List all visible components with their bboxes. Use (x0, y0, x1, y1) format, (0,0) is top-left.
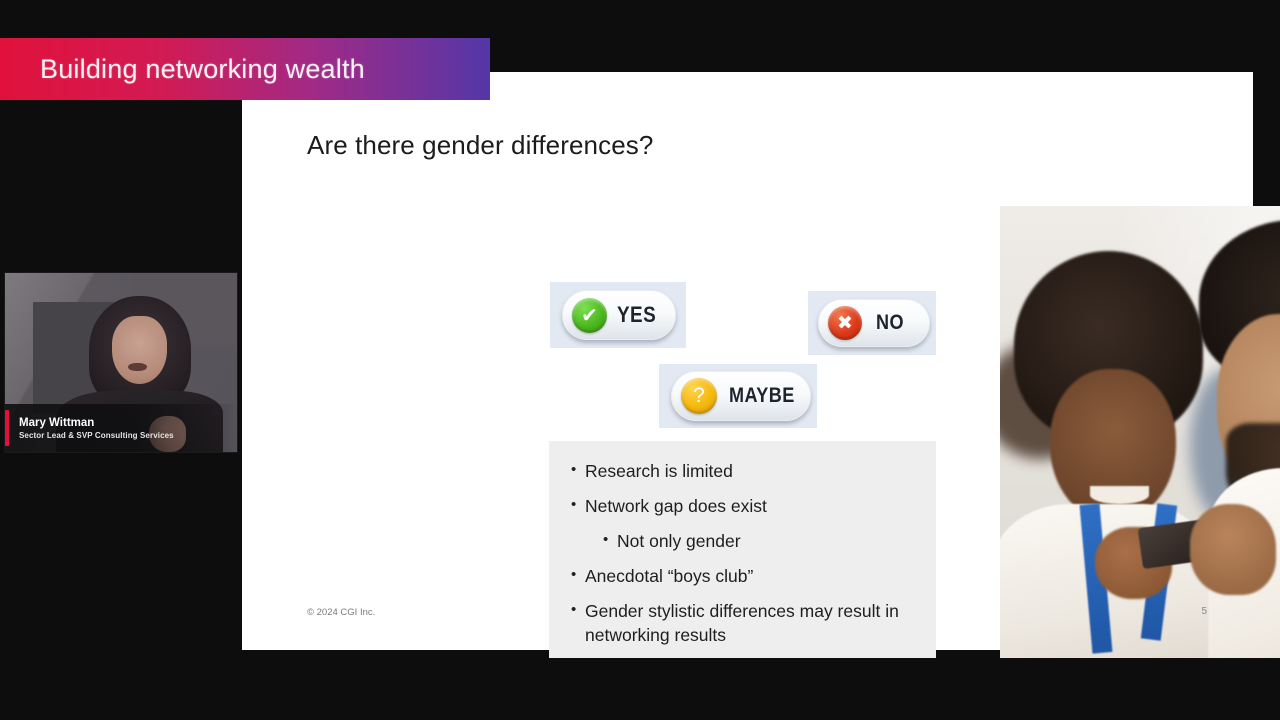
poll-label-no: NO (876, 311, 904, 335)
presentation-viewer: Building networking wealth Are there gen… (0, 0, 1280, 720)
list-item: • Not only gender (603, 529, 920, 553)
poll-pill-yes: ✔ YES (562, 290, 676, 340)
bullet-marker: • (603, 529, 617, 551)
bullet-marker: • (571, 459, 585, 481)
bullet-list-panel: • Research is limited • Network gap does… (549, 441, 936, 658)
photo-hand (1190, 504, 1276, 594)
banner-title-text: Building networking wealth (40, 54, 365, 85)
bullet-text: Anecdotal “boys club” (585, 564, 753, 588)
speaker-mouth (128, 363, 147, 372)
nameplate-accent-bar (5, 410, 9, 446)
speaker-nameplate: Mary Wittman Sector Lead & SVP Consultin… (5, 404, 237, 452)
bullet-text: Not only gender (617, 529, 741, 553)
poll-option-no[interactable]: ✖ NO (808, 291, 936, 355)
slide-copyright: © 2024 CGI Inc. (307, 607, 375, 618)
poll-label-yes: YES (617, 302, 656, 328)
speaker-face (112, 316, 168, 384)
list-item: • Network gap does exist (571, 494, 920, 518)
poll-pill-maybe: ? MAYBE (671, 371, 811, 421)
bullet-marker: • (571, 564, 585, 586)
bullet-text: Network gap does exist (585, 494, 767, 518)
slide-title-banner: Building networking wealth (0, 38, 490, 100)
speaker-role-label: Sector Lead & SVP Consulting Services (19, 430, 237, 441)
bullet-marker: • (571, 599, 585, 621)
bullet-text: Research is limited (585, 459, 733, 483)
slide-photo (1000, 206, 1280, 658)
list-item: • Gender stylistic differences may resul… (571, 599, 920, 647)
question-circle-icon: ? (681, 378, 717, 414)
poll-pill-no: ✖ NO (818, 299, 930, 347)
poll-option-yes[interactable]: ✔ YES (550, 282, 686, 348)
bullet-text: Gender stylistic differences may result … (585, 599, 920, 647)
speaker-video-tile[interactable]: Mary Wittman Sector Lead & SVP Consultin… (5, 273, 237, 452)
list-item: • Research is limited (571, 459, 920, 483)
list-item: • Anecdotal “boys club” (571, 564, 920, 588)
bullet-marker: • (571, 494, 585, 516)
speaker-name-label: Mary Wittman (19, 416, 237, 430)
poll-label-maybe: MAYBE (729, 384, 795, 408)
slide-canvas: Are there gender differences? ✔ YES ✖ NO… (242, 72, 1253, 650)
x-circle-icon: ✖ (828, 306, 862, 340)
slide-page-number: 5 (1201, 606, 1207, 617)
check-circle-icon: ✔ (572, 298, 607, 333)
poll-option-maybe[interactable]: ? MAYBE (659, 364, 817, 428)
slide-heading: Are there gender differences? (307, 130, 653, 161)
